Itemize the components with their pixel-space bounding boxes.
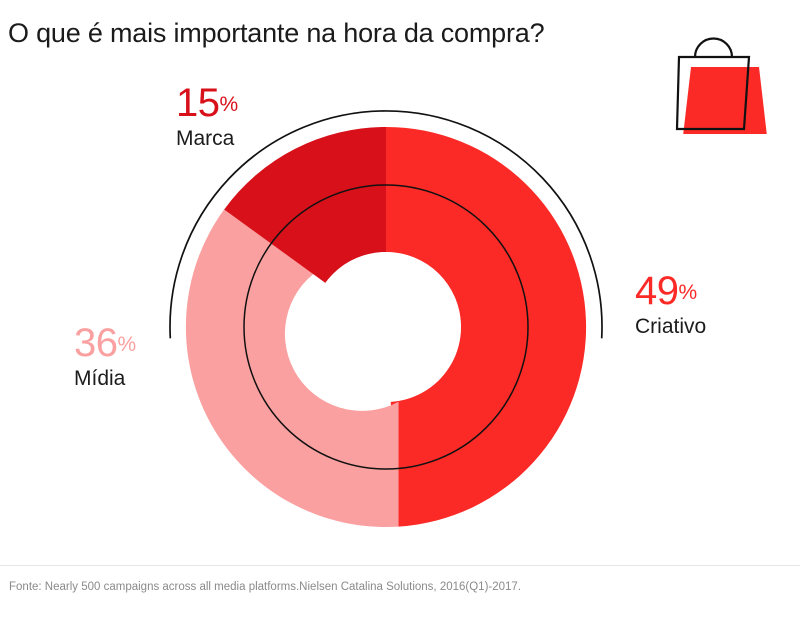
callout-midia-value-group: 36% <box>74 322 136 364</box>
callout-marca-label: Marca <box>176 126 238 152</box>
callout-marca: 15% Marca <box>176 82 238 152</box>
bag-body-red-shape <box>683 67 767 134</box>
source-footnote: Fonte: Nearly 500 campaigns across all m… <box>9 580 521 595</box>
callout-marca-percent-sign: % <box>220 93 239 116</box>
callout-criativo-value: 49 <box>635 269 679 313</box>
donut-chart <box>150 90 630 570</box>
callout-midia: 36% Mídia <box>74 322 136 392</box>
shopping-bag-icon <box>664 18 780 134</box>
footer-divider <box>0 565 800 566</box>
bag-handle-shape <box>695 39 732 58</box>
callout-marca-value-group: 15% <box>176 82 238 124</box>
donut-center-hole <box>311 252 461 402</box>
callout-midia-value: 36 <box>74 321 118 365</box>
callout-marca-value: 15 <box>176 81 220 125</box>
callout-midia-label: Mídia <box>74 366 136 392</box>
page-title: O que é mais importante na hora da compr… <box>8 16 544 50</box>
callout-midia-percent-sign: % <box>118 333 137 356</box>
callout-criativo-percent-sign: % <box>679 281 698 304</box>
infographic-page: O que é mais importante na hora da compr… <box>0 0 800 630</box>
callout-criativo-label: Criativo <box>635 314 706 340</box>
callout-criativo: 49% Criativo <box>635 270 706 340</box>
callout-criativo-value-group: 49% <box>635 270 697 312</box>
